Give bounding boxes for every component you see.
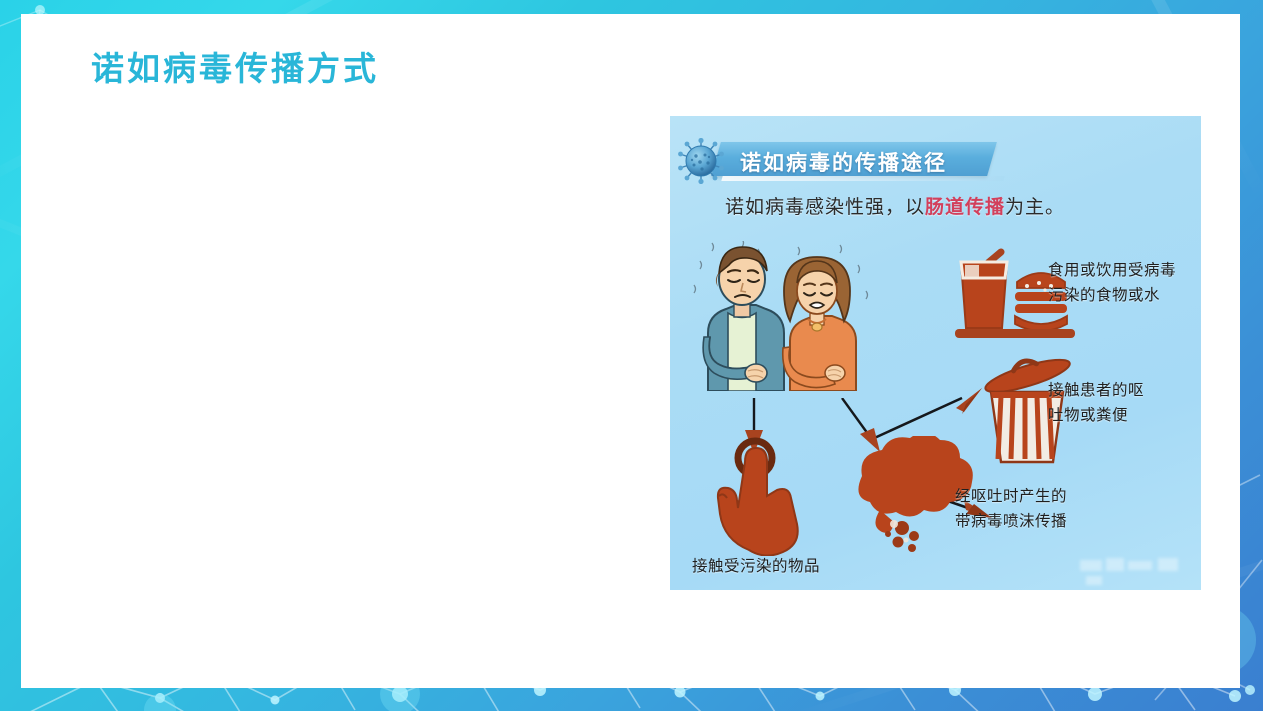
page-title: 诺如病毒传播方式 bbox=[91, 42, 379, 90]
virus-sphere-icon bbox=[678, 138, 724, 184]
slide-canvas: 诺如病毒传播方式 bbox=[0, 0, 1263, 711]
sick-people-figures bbox=[690, 241, 880, 391]
caption-food-water: 食用或饮用受病毒 污染的食物或水 bbox=[1048, 258, 1176, 308]
caption-contaminated-objects: 接触受污染的物品 bbox=[692, 554, 820, 579]
transmission-diagram-image: 诺如病毒的传播途径 诺如病毒感染性强，以肠道传播为主。 bbox=[670, 116, 1201, 590]
sick-man-figure bbox=[703, 247, 784, 391]
headline-suffix: 为主。 bbox=[1005, 196, 1065, 218]
image-watermark bbox=[1080, 554, 1190, 584]
headline-highlight: 肠道传播 bbox=[925, 196, 1005, 218]
pointing-hand-icon bbox=[710, 436, 820, 556]
headline-prefix: 诺如病毒感染性强，以 bbox=[725, 196, 925, 218]
slide-content-card: 诺如病毒传播方式 bbox=[21, 14, 1240, 688]
diagram-banner: 诺如病毒的传播途径 bbox=[678, 138, 998, 180]
banner-title: 诺如病毒的传播途径 bbox=[740, 147, 947, 177]
caption-vomit-feces: 接触患者的呕 吐物或粪便 bbox=[1048, 378, 1144, 428]
sick-woman-figure bbox=[783, 257, 856, 391]
caption-droplet-spread: 经呕吐时产生的 带病毒喷沫传播 bbox=[955, 484, 1067, 534]
diagram-headline: 诺如病毒感染性强，以肠道传播为主。 bbox=[725, 192, 1065, 219]
